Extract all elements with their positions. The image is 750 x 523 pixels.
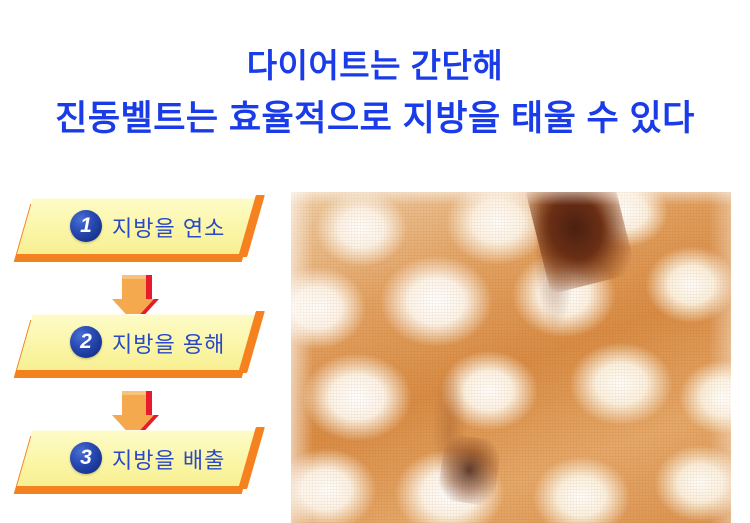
step-number-badge-3: 3	[70, 442, 102, 474]
step-number-badge-1: 1	[70, 210, 102, 242]
step-number-badge-2: 2	[70, 326, 102, 358]
step-label-1: 지방을 연소	[112, 211, 225, 243]
headline-line-2: 진동벨트는 효율적으로 지방을 태울 수 있다	[0, 95, 750, 143]
adipose-tissue-micrograph	[291, 192, 731, 523]
micrograph-edge-fade	[291, 192, 731, 523]
step-label-3: 지방을 배출	[112, 443, 225, 475]
headline-block: 다이어트는 간단해 진동벨트는 효율적으로 지방을 태울 수 있다	[0, 44, 750, 143]
flow-step-1: 1 지방을 연소	[0, 194, 290, 268]
flow-step-3: 3 지방을 배출	[0, 426, 290, 500]
step-label-2: 지방을 용해	[112, 327, 225, 359]
flow-step-2: 2 지방을 용해	[0, 310, 290, 384]
process-flow-diagram: 1 지방을 연소 2 지방을 용해 3 지방을 배출	[0, 190, 290, 515]
headline-line-1: 다이어트는 간단해	[0, 44, 750, 88]
